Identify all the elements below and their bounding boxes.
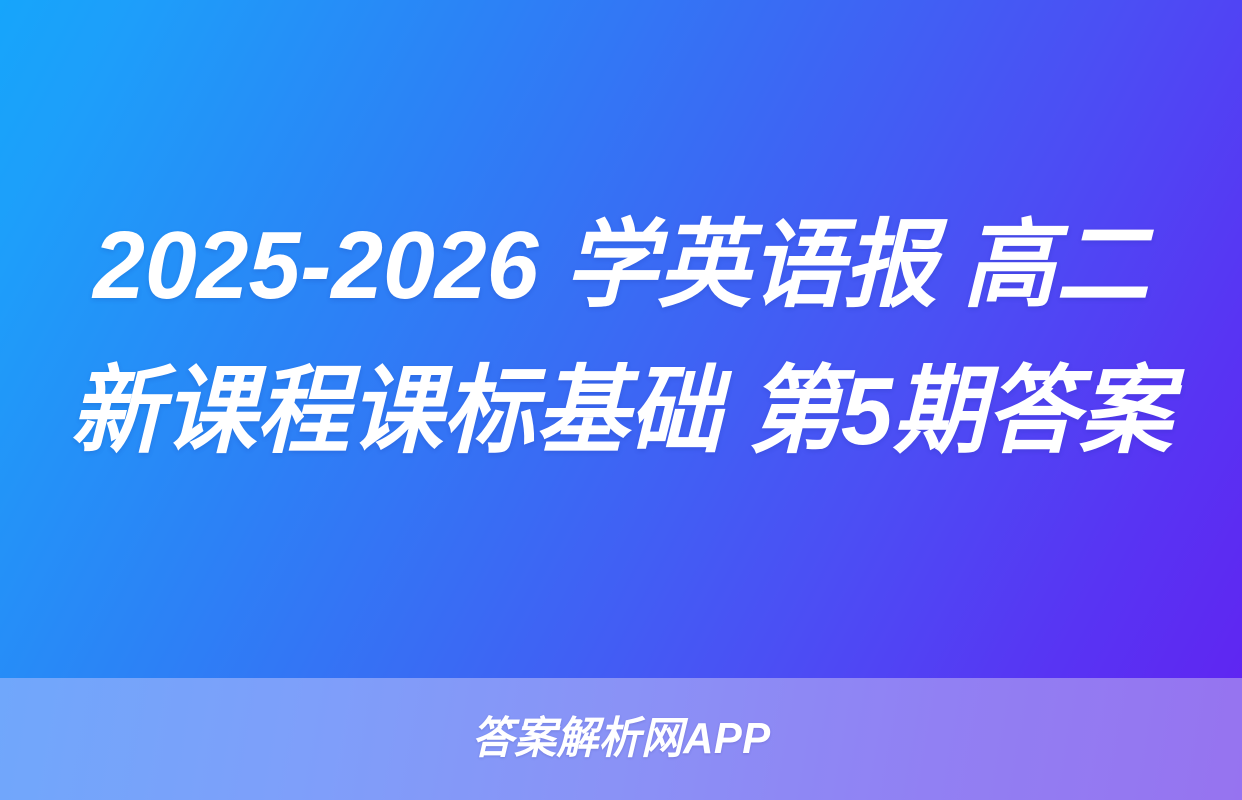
app-watermark-label: 答案解析网APP <box>472 713 771 765</box>
page-title: 2025-2026 学英语报 高二 新课程课标基础 第5期答案 <box>68 193 1174 485</box>
hero-text-block: 2025-2026 学英语报 高二 新课程课标基础 第5期答案 <box>51 193 1191 485</box>
watermark-band: 答案解析网APP <box>0 678 1242 800</box>
hero-gradient-panel: 2025-2026 学英语报 高二 新课程课标基础 第5期答案 <box>0 0 1242 678</box>
poster-container: 2025-2026 学英语报 高二 新课程课标基础 第5期答案 答案解析网APP <box>0 0 1242 800</box>
